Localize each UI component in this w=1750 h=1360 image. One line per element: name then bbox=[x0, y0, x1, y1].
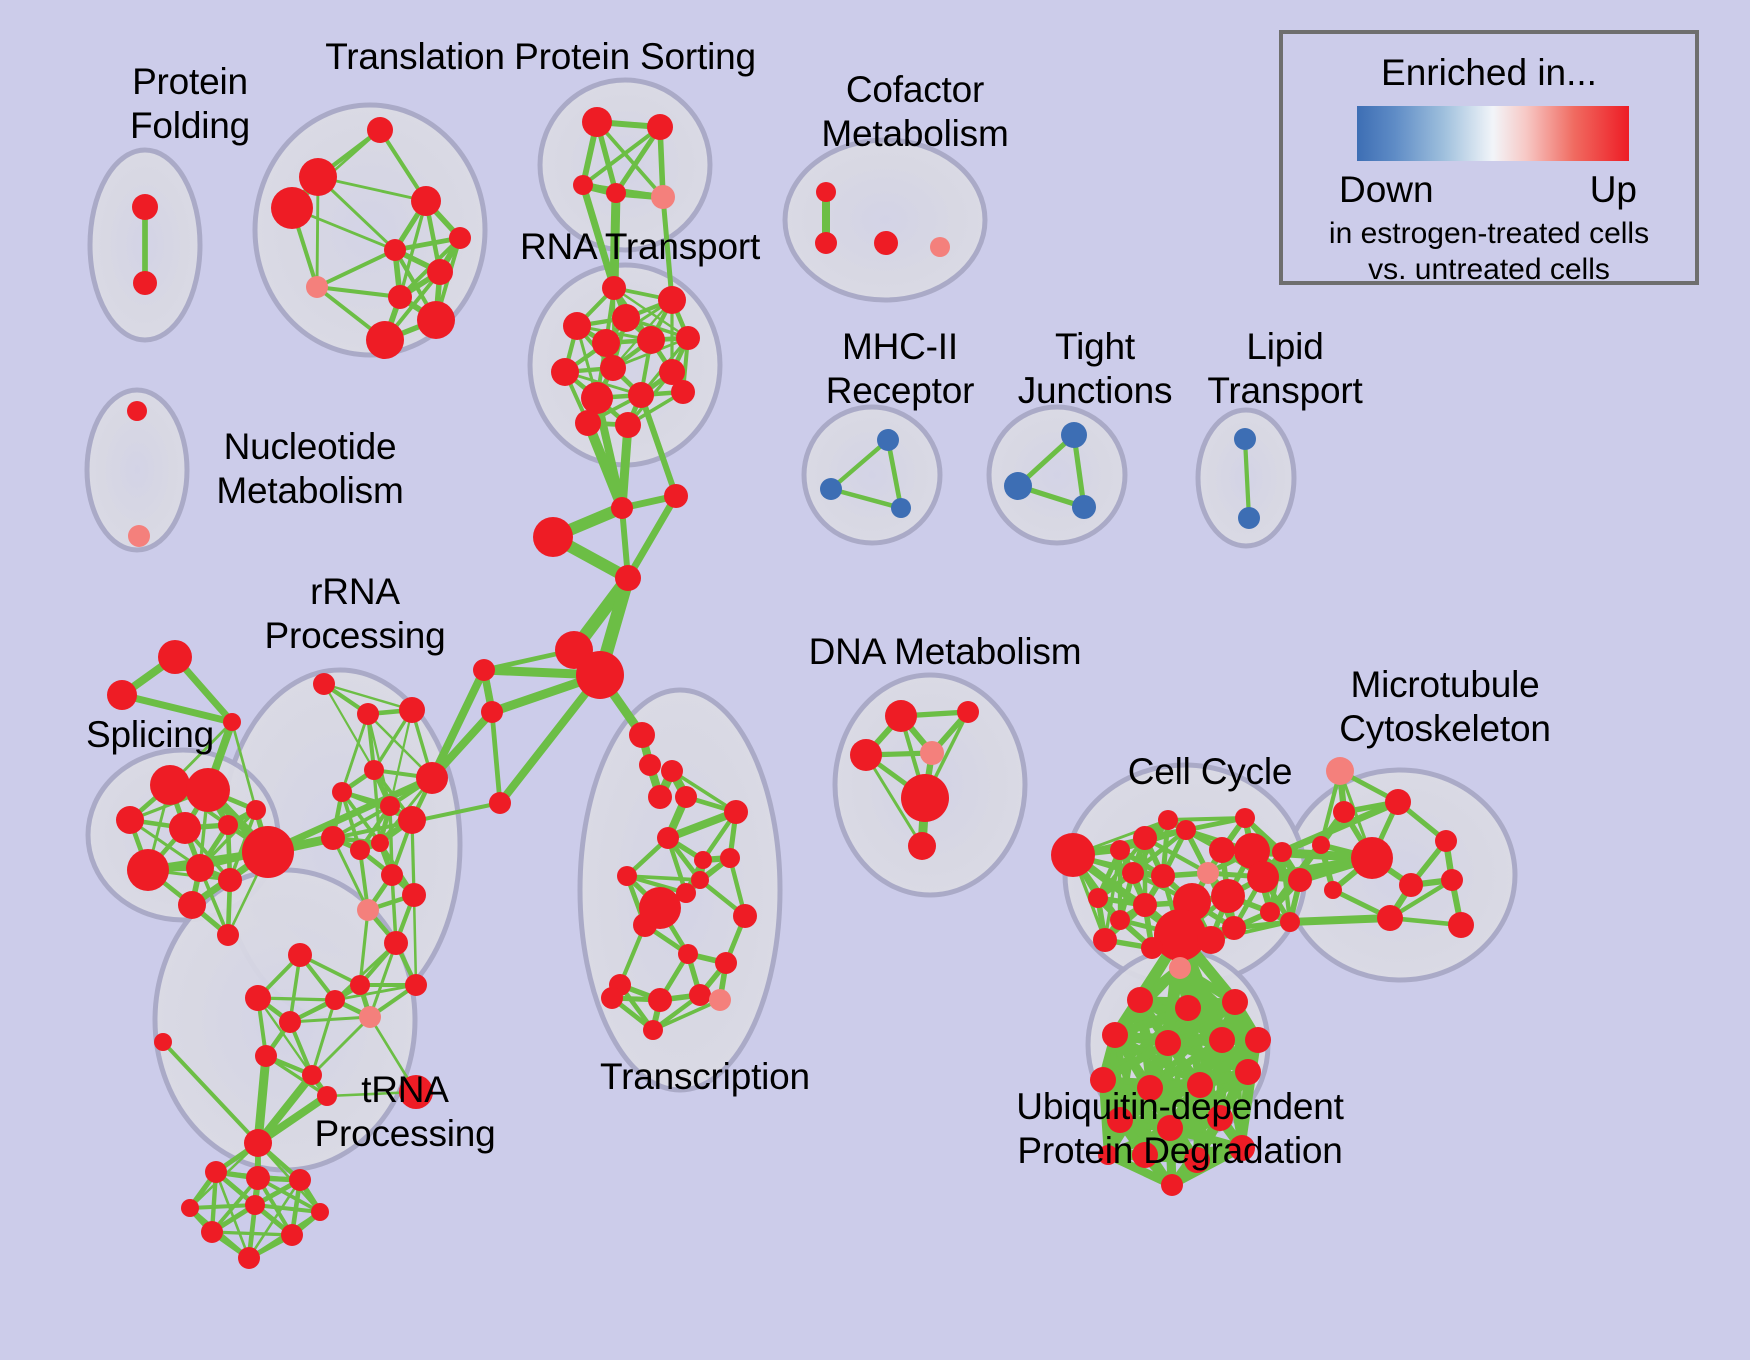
cluster-label-microtubule-cytoskeleton: Microtubule Cytoskeleton bbox=[1295, 663, 1595, 751]
network-node[interactable] bbox=[720, 848, 740, 868]
network-node[interactable] bbox=[417, 301, 455, 339]
network-node[interactable] bbox=[612, 304, 640, 332]
network-node[interactable] bbox=[132, 194, 158, 220]
network-node[interactable] bbox=[218, 868, 242, 892]
network-node[interactable] bbox=[473, 659, 495, 681]
network-node[interactable] bbox=[647, 114, 673, 140]
network-node[interactable] bbox=[1061, 422, 1087, 448]
network-node[interactable] bbox=[181, 1199, 199, 1217]
network-node[interactable] bbox=[533, 517, 573, 557]
network-node[interactable] bbox=[1448, 912, 1474, 938]
network-node[interactable] bbox=[244, 1129, 272, 1157]
network-node[interactable] bbox=[205, 1161, 227, 1183]
cluster-label-protein-folding: Protein Folding bbox=[80, 60, 300, 148]
network-node[interactable] bbox=[611, 497, 633, 519]
network-node[interactable] bbox=[628, 382, 654, 408]
network-node[interactable] bbox=[1151, 864, 1175, 888]
network-node[interactable] bbox=[279, 1011, 301, 1033]
network-node[interactable] bbox=[398, 806, 426, 834]
cluster-label-trna-processing: tRNA Processing bbox=[290, 1068, 520, 1156]
network-node[interactable] bbox=[1176, 820, 1196, 840]
network-node[interactable] bbox=[600, 355, 626, 381]
network-node[interactable] bbox=[218, 815, 238, 835]
network-node[interactable] bbox=[481, 701, 503, 723]
network-node[interactable] bbox=[908, 832, 936, 860]
network-node[interactable] bbox=[733, 904, 757, 928]
network-node[interactable] bbox=[158, 640, 192, 674]
network-node[interactable] bbox=[1333, 801, 1355, 823]
network-node[interactable] bbox=[581, 382, 613, 414]
cluster-label-rrna-processing: rRNA Processing bbox=[240, 570, 470, 658]
network-node[interactable] bbox=[648, 785, 672, 809]
network-node[interactable] bbox=[676, 326, 700, 350]
network-node[interactable] bbox=[150, 765, 190, 805]
network-node[interactable] bbox=[1004, 472, 1032, 500]
network-node[interactable] bbox=[388, 285, 412, 309]
network-node[interactable] bbox=[1141, 937, 1163, 959]
network-node[interactable] bbox=[629, 722, 655, 748]
network-node[interactable] bbox=[238, 1247, 260, 1269]
cluster-label-mhc-ii-receptor: MHC-II Receptor bbox=[790, 325, 1010, 413]
legend-subtitle: in estrogen-treated cells vs. untreated … bbox=[1283, 216, 1695, 288]
network-node[interactable] bbox=[306, 276, 328, 298]
network-node[interactable] bbox=[1312, 836, 1330, 854]
cluster-label-cell-cycle: Cell Cycle bbox=[1090, 750, 1330, 794]
network-node[interactable] bbox=[715, 952, 737, 974]
network-node[interactable] bbox=[384, 931, 408, 955]
network-node[interactable] bbox=[1399, 873, 1423, 897]
network-node[interactable] bbox=[664, 484, 688, 508]
network-node[interactable] bbox=[1133, 826, 1157, 850]
edge bbox=[1290, 918, 1390, 922]
network-node[interactable] bbox=[573, 175, 593, 195]
network-node[interactable] bbox=[658, 286, 686, 314]
edge bbox=[1168, 818, 1245, 820]
network-node[interactable] bbox=[313, 673, 335, 695]
legend-title: Enriched in... bbox=[1283, 52, 1695, 94]
network-node[interactable] bbox=[299, 158, 337, 196]
network-node[interactable] bbox=[592, 329, 620, 357]
network-node[interactable] bbox=[815, 232, 837, 254]
network-node[interactable] bbox=[1093, 928, 1117, 952]
network-node[interactable] bbox=[661, 760, 683, 782]
network-node[interactable] bbox=[1272, 842, 1292, 862]
network-node[interactable] bbox=[1235, 808, 1255, 828]
network-node[interactable] bbox=[575, 410, 601, 436]
network-node[interactable] bbox=[1385, 789, 1411, 815]
network-node[interactable] bbox=[850, 739, 882, 771]
network-node[interactable] bbox=[371, 834, 389, 852]
network-node[interactable] bbox=[169, 812, 201, 844]
network-node[interactable] bbox=[380, 796, 400, 816]
network-node[interactable] bbox=[399, 697, 425, 723]
network-node[interactable] bbox=[648, 988, 672, 1012]
network-node[interactable] bbox=[709, 989, 731, 1011]
network-node[interactable] bbox=[350, 975, 370, 995]
network-node[interactable] bbox=[1235, 1059, 1261, 1085]
network-node[interactable] bbox=[1102, 1022, 1128, 1048]
cluster-hull-cofactor-metabolism bbox=[785, 140, 985, 300]
network-node[interactable] bbox=[1288, 868, 1312, 892]
network-node[interactable] bbox=[186, 768, 230, 812]
network-node[interactable] bbox=[901, 774, 949, 822]
network-node[interactable] bbox=[1110, 840, 1130, 860]
network-node[interactable] bbox=[1122, 862, 1144, 884]
network-node[interactable] bbox=[1175, 995, 1201, 1021]
network-node[interactable] bbox=[1209, 837, 1235, 863]
cluster-label-splicing: Splicing bbox=[55, 713, 245, 757]
cluster-label-nucleotide-metabolism: Nucleotide Metabolism bbox=[185, 425, 435, 513]
network-node[interactable] bbox=[201, 1221, 223, 1243]
network-node[interactable] bbox=[128, 525, 150, 547]
network-node[interactable] bbox=[449, 227, 471, 249]
network-node[interactable] bbox=[381, 864, 403, 886]
cluster-hull-mhc-ii-receptor bbox=[804, 407, 940, 543]
network-node[interactable] bbox=[639, 887, 681, 929]
network-node[interactable] bbox=[691, 871, 709, 889]
network-node[interactable] bbox=[178, 891, 206, 919]
cluster-label-protein-sorting: Protein Sorting bbox=[490, 35, 780, 79]
network-node[interactable] bbox=[671, 380, 695, 404]
network-node[interactable] bbox=[1209, 1027, 1235, 1053]
network-node[interactable] bbox=[405, 974, 427, 996]
network-node[interactable] bbox=[1088, 888, 1108, 908]
network-node[interactable] bbox=[651, 185, 675, 209]
network-node[interactable] bbox=[820, 478, 842, 500]
network-node[interactable] bbox=[127, 849, 169, 891]
network-node[interactable] bbox=[678, 944, 698, 964]
network-node[interactable] bbox=[1072, 495, 1096, 519]
network-node[interactable] bbox=[689, 984, 711, 1006]
network-node[interactable] bbox=[1155, 1030, 1181, 1056]
network-node[interactable] bbox=[657, 827, 679, 849]
network-node[interactable] bbox=[411, 186, 441, 216]
network-node[interactable] bbox=[384, 239, 406, 261]
network-node[interactable] bbox=[416, 762, 448, 794]
network-node[interactable] bbox=[1127, 987, 1153, 1013]
network-node[interactable] bbox=[255, 1045, 277, 1067]
network-node[interactable] bbox=[357, 703, 379, 725]
network-node[interactable] bbox=[242, 826, 294, 878]
network-node[interactable] bbox=[615, 565, 641, 591]
network-node[interactable] bbox=[154, 1033, 172, 1051]
network-node[interactable] bbox=[816, 182, 836, 202]
network-node[interactable] bbox=[1222, 916, 1246, 940]
network-node[interactable] bbox=[920, 741, 944, 765]
network-node[interactable] bbox=[930, 237, 950, 257]
network-node[interactable] bbox=[891, 498, 911, 518]
legend-box: Enriched in... Down Up in estrogen-treat… bbox=[1279, 30, 1699, 285]
network-node[interactable] bbox=[1245, 1027, 1271, 1053]
legend-high-label: Up bbox=[1590, 169, 1637, 211]
network-node[interactable] bbox=[1211, 879, 1245, 913]
network-node[interactable] bbox=[357, 899, 379, 921]
network-node[interactable] bbox=[350, 840, 370, 860]
network-node[interactable] bbox=[1051, 833, 1095, 877]
network-node[interactable] bbox=[563, 312, 591, 340]
cluster-label-cofactor-metabolism: Cofactor Metabolism bbox=[790, 68, 1040, 156]
network-node[interactable] bbox=[643, 1020, 663, 1040]
network-node[interactable] bbox=[617, 866, 637, 886]
network-node[interactable] bbox=[1197, 926, 1225, 954]
network-node[interactable] bbox=[1351, 837, 1393, 879]
network-node[interactable] bbox=[217, 924, 239, 946]
network-node[interactable] bbox=[601, 987, 623, 1009]
network-node[interactable] bbox=[281, 1224, 303, 1246]
network-node[interactable] bbox=[289, 1169, 311, 1191]
network-node[interactable] bbox=[107, 680, 137, 710]
network-node[interactable] bbox=[1234, 428, 1256, 450]
cluster-label-transcription: Transcription bbox=[560, 1055, 850, 1099]
network-node[interactable] bbox=[1197, 862, 1219, 884]
network-node[interactable] bbox=[957, 701, 979, 723]
network-node[interactable] bbox=[489, 792, 511, 814]
network-node[interactable] bbox=[1222, 989, 1248, 1015]
network-node[interactable] bbox=[637, 326, 665, 354]
network-node[interactable] bbox=[246, 1166, 270, 1190]
network-node[interactable] bbox=[1238, 507, 1260, 529]
network-node[interactable] bbox=[367, 117, 393, 143]
network-node[interactable] bbox=[332, 782, 352, 802]
network-node[interactable] bbox=[427, 259, 453, 285]
legend-low-label: Down bbox=[1339, 169, 1434, 211]
network-node[interactable] bbox=[1110, 910, 1130, 930]
network-node[interactable] bbox=[1326, 757, 1354, 785]
network-node[interactable] bbox=[1161, 1174, 1183, 1196]
network-node[interactable] bbox=[245, 1195, 265, 1215]
network-node[interactable] bbox=[1158, 810, 1178, 830]
network-node[interactable] bbox=[602, 276, 626, 300]
network-node[interactable] bbox=[582, 107, 612, 137]
network-node[interactable] bbox=[359, 1006, 381, 1028]
cluster-label-ubiquitin-protein-degradation: Ubiquitin-dependent Protein Degradation bbox=[970, 1085, 1390, 1173]
network-node[interactable] bbox=[1133, 893, 1157, 917]
network-node[interactable] bbox=[874, 231, 898, 255]
network-node[interactable] bbox=[615, 412, 641, 438]
network-node[interactable] bbox=[1260, 902, 1280, 922]
cluster-label-tight-junctions: Tight Junctions bbox=[985, 325, 1205, 413]
network-node[interactable] bbox=[877, 429, 899, 451]
network-node[interactable] bbox=[402, 883, 426, 907]
network-node[interactable] bbox=[245, 985, 271, 1011]
network-node[interactable] bbox=[325, 990, 345, 1010]
network-node[interactable] bbox=[133, 271, 157, 295]
network-node[interactable] bbox=[271, 187, 313, 229]
network-node[interactable] bbox=[246, 800, 266, 820]
network-node[interactable] bbox=[321, 826, 345, 850]
network-node[interactable] bbox=[311, 1203, 329, 1221]
figure-canvas: Protein FoldingTranslationProtein Sortin… bbox=[0, 0, 1750, 1360]
legend-gradient-bar bbox=[1357, 106, 1629, 161]
network-node[interactable] bbox=[724, 800, 748, 824]
network-node[interactable] bbox=[606, 183, 626, 203]
network-node[interactable] bbox=[1169, 957, 1191, 979]
network-node[interactable] bbox=[1324, 881, 1342, 899]
network-node[interactable] bbox=[639, 754, 661, 776]
network-node[interactable] bbox=[1280, 912, 1300, 932]
network-node[interactable] bbox=[186, 854, 214, 882]
network-node[interactable] bbox=[116, 806, 144, 834]
network-node[interactable] bbox=[694, 851, 712, 869]
network-node[interactable] bbox=[288, 943, 312, 967]
network-node[interactable] bbox=[551, 358, 579, 386]
network-node[interactable] bbox=[1441, 869, 1463, 891]
cluster-label-rna-transport: RNA Transport bbox=[500, 225, 780, 269]
network-node[interactable] bbox=[885, 700, 917, 732]
network-node[interactable] bbox=[576, 651, 624, 699]
cluster-label-lipid-transport: Lipid Transport bbox=[1175, 325, 1395, 413]
cluster-label-dna-metabolism: DNA Metabolism bbox=[795, 630, 1095, 674]
network-node[interactable] bbox=[1377, 905, 1403, 931]
network-node[interactable] bbox=[675, 786, 697, 808]
network-node[interactable] bbox=[364, 760, 384, 780]
network-node[interactable] bbox=[1247, 861, 1279, 893]
edge bbox=[492, 712, 500, 803]
network-node[interactable] bbox=[366, 321, 404, 359]
network-node[interactable] bbox=[1435, 830, 1457, 852]
network-node[interactable] bbox=[127, 401, 147, 421]
